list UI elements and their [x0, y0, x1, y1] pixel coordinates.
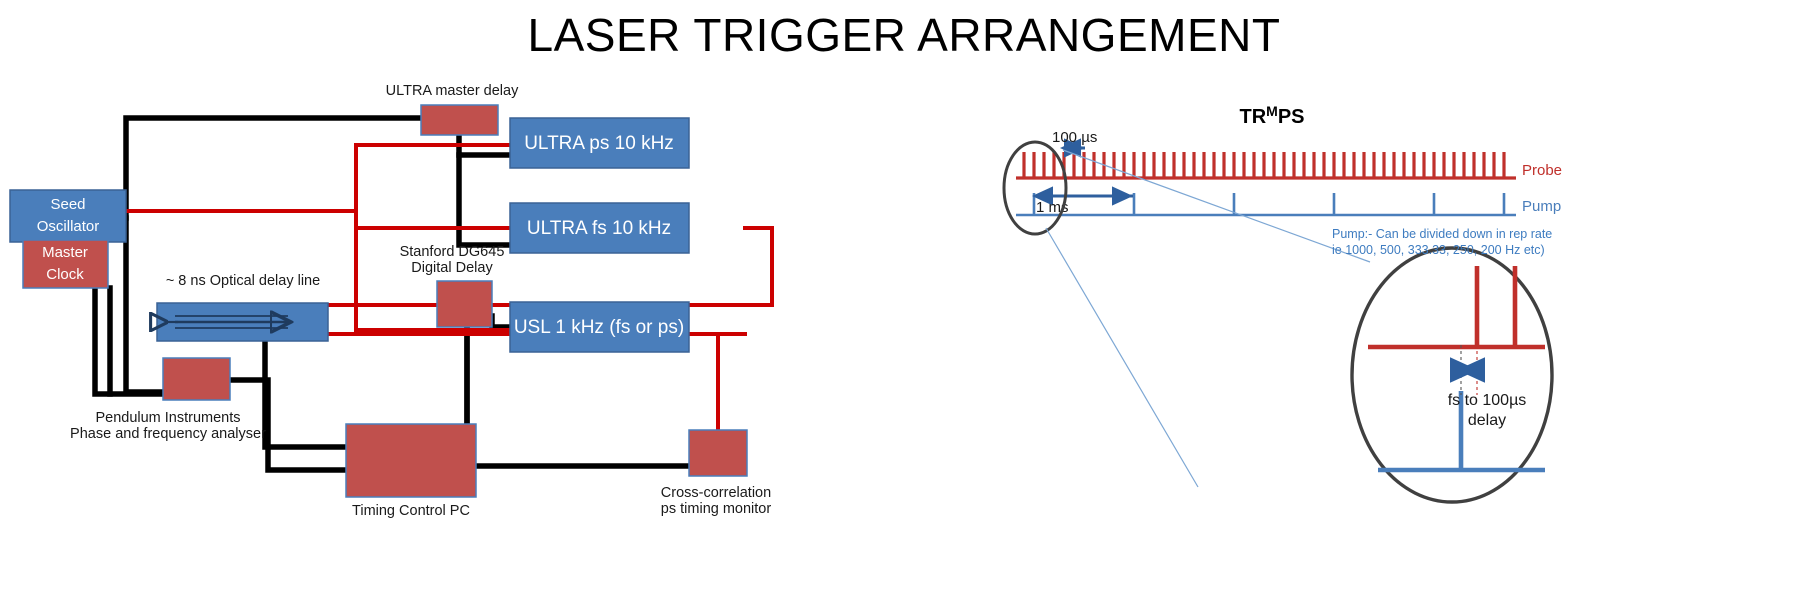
probe-label: Probe	[1522, 162, 1562, 179]
zoom-leader-lines	[1046, 150, 1370, 487]
trmps-title-pre: TR	[1239, 106, 1266, 128]
trmps-diagram: TRMPS	[0, 0, 1808, 608]
diagram-canvas: LASER TRIGGER ARRANGEMENT	[0, 0, 1808, 608]
pump-note-line2: ie 1000, 500, 333.33, 250, 200 Hz etc)	[1332, 243, 1545, 257]
label-100us: 100 µs	[1052, 129, 1097, 146]
trmps-title-post: PS	[1278, 106, 1305, 128]
inset-label-line1: fs to 100µs	[1448, 392, 1527, 409]
trmps-title: TRMPS	[1239, 103, 1304, 128]
trmps-title-sup: M	[1266, 103, 1278, 119]
pump-label: Pump	[1522, 198, 1561, 215]
pump-note-line1: Pump:- Can be divided down in rep rate	[1332, 227, 1552, 241]
inset-oval	[1352, 248, 1552, 502]
inset-label-line2: delay	[1468, 412, 1506, 429]
probe-trace	[1016, 152, 1516, 178]
